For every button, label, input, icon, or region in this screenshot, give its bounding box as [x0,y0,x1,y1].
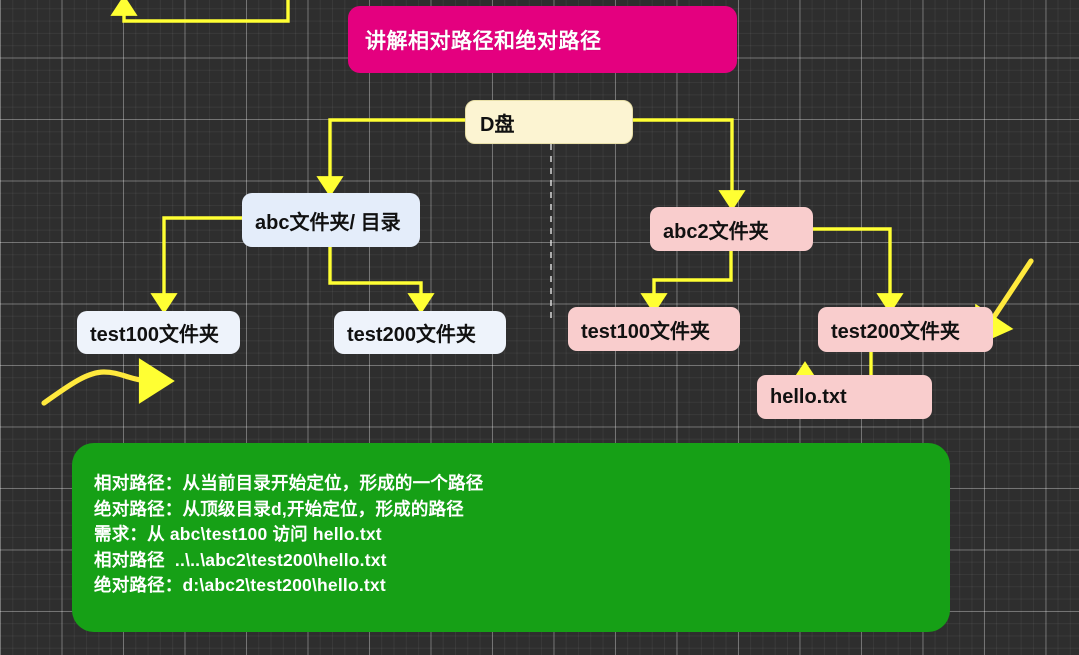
node-hello-txt[interactable]: hello.txt [757,375,932,419]
edge-abc-to-test200-left [330,247,421,303]
node-test200-folder-right[interactable]: test200文件夹 [818,307,993,352]
note-line-absolute-path-example: 绝对路径：d:\abc2\test200\hello.txt [94,573,950,599]
edge-drive-to-abc2 [633,120,732,200]
note-line-requirement: 需求：从 abc\test100 访问 hello.txt [94,522,950,548]
explanation-note: 相对路径：从当前目录开始定位，形成的一个路径 绝对路径：从顶级目录d,开始定位，… [72,443,950,632]
note-line-relative-path-example: 相对路径 ..\..\abc2\test200\hello.txt [94,548,950,574]
node-test100-folder-right[interactable]: test100文件夹 [568,307,740,351]
freehand-arrow-left [44,372,154,403]
edge-abc2-to-test200-right [813,229,890,303]
node-d-drive[interactable]: D盘 [465,100,633,144]
node-abc-folder[interactable]: abc文件夹/ 目录 [242,193,420,247]
edge-drive-to-abc [330,120,465,186]
title-banner: 讲解相对路径和绝对路径 [348,6,737,73]
edge-abc-to-test100-left [164,218,242,303]
node-abc2-folder[interactable]: abc2文件夹 [650,207,813,251]
note-line-relative-path-def: 相对路径：从当前目录开始定位，形成的一个路径 [94,471,950,497]
top-left-connector-arrow [124,0,288,21]
diagram-canvas: 讲解相对路径和绝对路径 D盘 abc文件夹/ 目录 abc2文件夹 test10… [0,0,1079,655]
note-line-absolute-path-def: 绝对路径：从顶级目录d,开始定位，形成的路径 [94,497,950,523]
node-test100-folder-left[interactable]: test100文件夹 [77,311,240,354]
node-test200-folder-left[interactable]: test200文件夹 [334,311,506,354]
edge-abc2-to-test100-right [654,251,731,303]
